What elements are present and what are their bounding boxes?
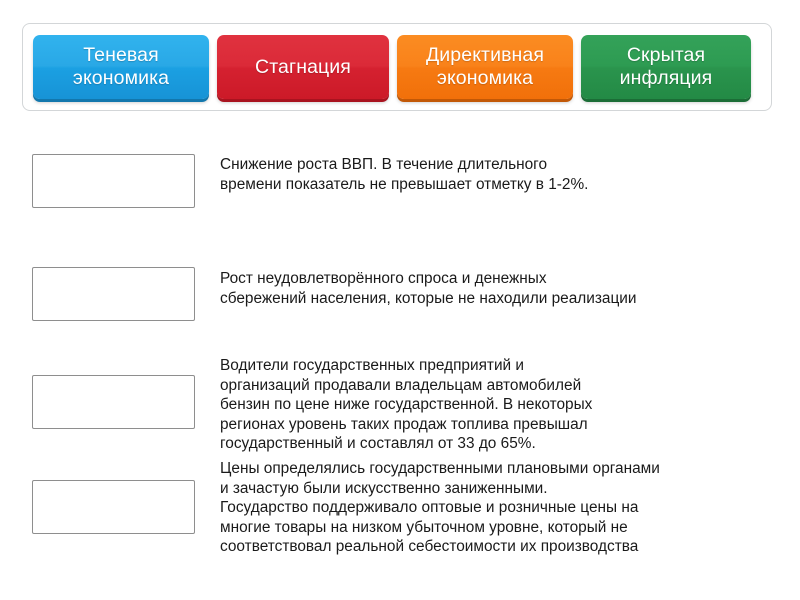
draggable-tile-hidden-inflation[interactable]: Скрытая инфляция: [581, 35, 751, 99]
row-description-4: Цены определялись государственными плано…: [220, 459, 790, 557]
draggable-tile-shadow-economy[interactable]: Теневая экономика: [33, 35, 209, 99]
draggable-tiles-panel: Теневая экономика Стагнация Директивная …: [22, 23, 772, 111]
row-description-2: Рост неудовлетворённого спроса и денежны…: [220, 269, 790, 308]
draggable-tile-directive-economy[interactable]: Директивная экономика: [397, 35, 573, 99]
dropzone-4[interactable]: [32, 480, 195, 534]
dropzone-1[interactable]: [32, 154, 195, 208]
row-description-3: Водители государственных предприятий и о…: [220, 356, 790, 454]
dropzone-3[interactable]: [32, 375, 195, 429]
draggable-tile-stagnation[interactable]: Стагнация: [217, 35, 389, 99]
dropzone-2[interactable]: [32, 267, 195, 321]
row-description-1: Снижение роста ВВП. В течение длительног…: [220, 155, 790, 194]
